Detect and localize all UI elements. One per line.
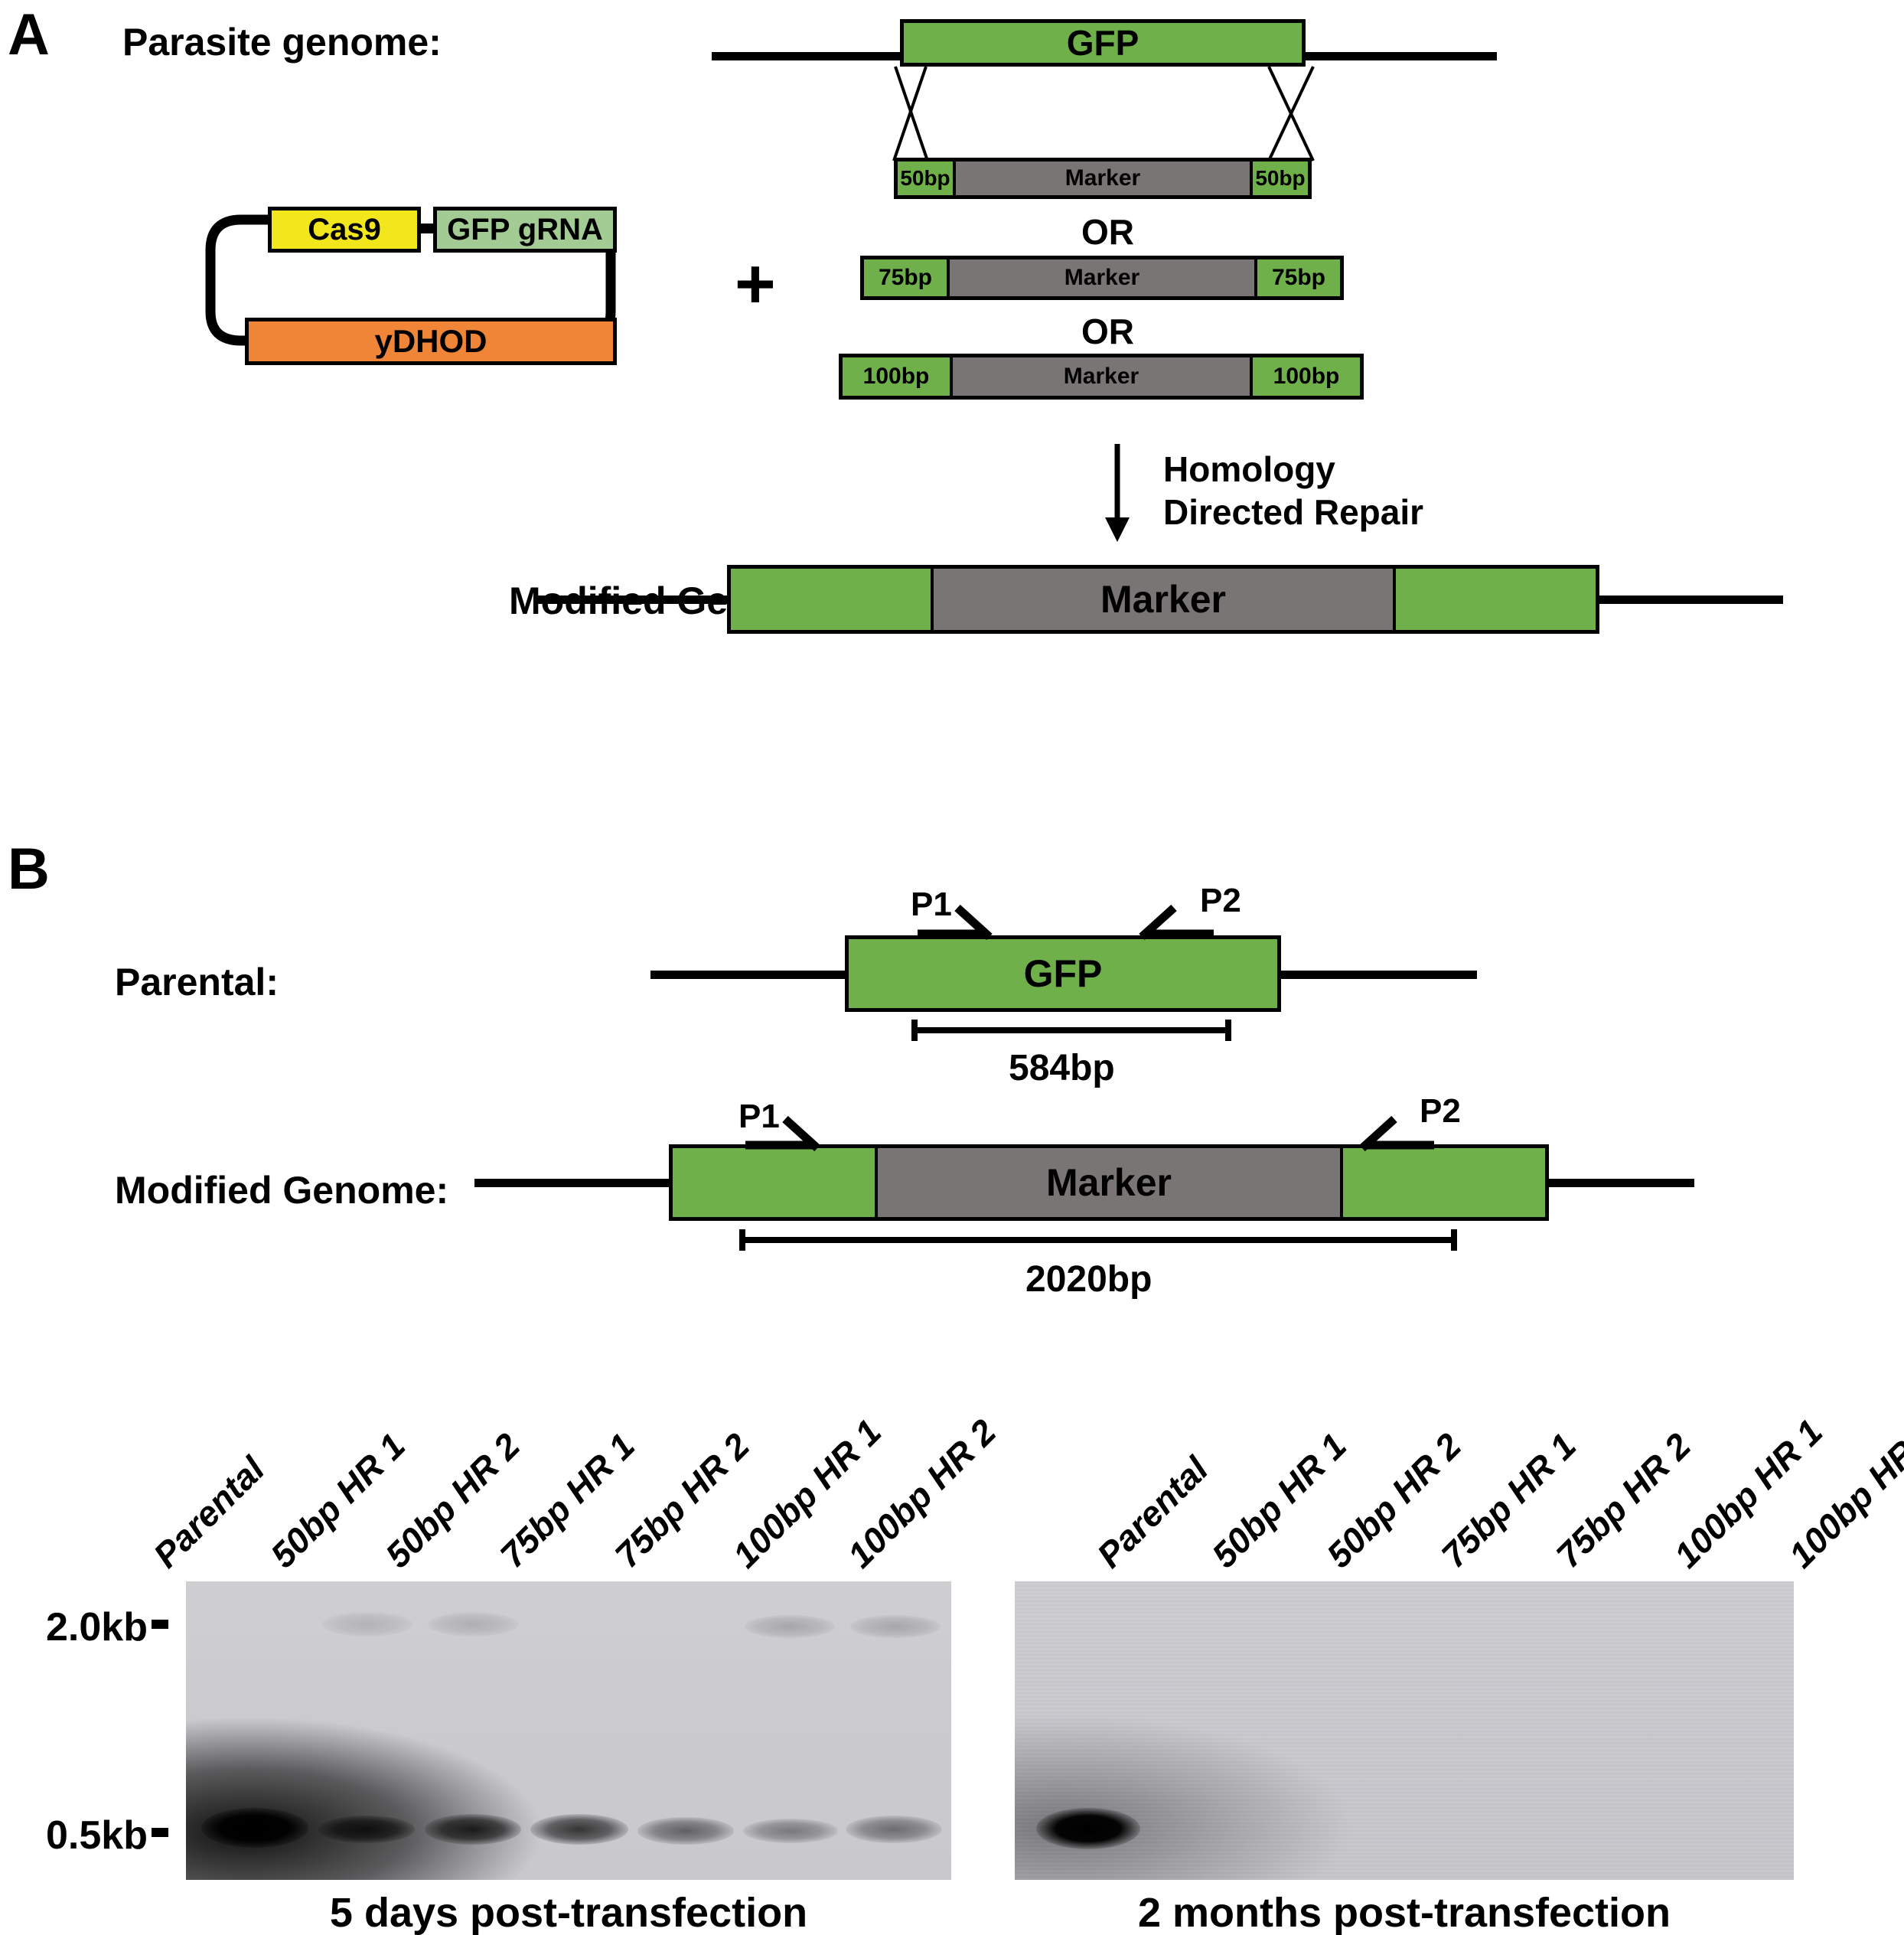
ladder-label-05kb: 0.5kb (46, 1816, 148, 1855)
modified-genome-marker-a: Marker (934, 569, 1393, 630)
donor-75bp-marker-label: Marker (1064, 266, 1139, 289)
modified-amplicon-size: 2020bp (1025, 1261, 1152, 1298)
donor-100bp-right-arm: 100bp (1250, 357, 1360, 396)
gel-band-0.5kb-lane-2 (318, 1816, 415, 1843)
ydhod-label: yDHOD (374, 325, 487, 357)
modified-line-left-b (474, 1179, 673, 1187)
or-label-1: OR (1081, 214, 1134, 250)
genome-line-left (712, 52, 903, 60)
gfp-box-panel-a: GFP (900, 19, 1306, 67)
gel-5-days-post-transfection (186, 1581, 951, 1880)
parental-amplicon-bracket (911, 1016, 1232, 1044)
modified-genome-line-left (536, 596, 731, 604)
primer-p2-arrow-parental (1119, 903, 1218, 940)
donor-75bp-left-arm-label: 75bp (879, 266, 932, 289)
ydhod-box: yDHOD (245, 318, 617, 365)
modified-amplicon-bracket (738, 1226, 1458, 1254)
gel-band-2.0kb-lane-3 (428, 1612, 518, 1636)
gel-band-0.5kb-lane-5 (637, 1817, 734, 1845)
recombination-crossover-lines (880, 65, 1339, 165)
modified-genome-construct-panel-b: Marker (669, 1144, 1549, 1221)
ladder-tick-05kb (152, 1828, 168, 1837)
gel-band-2.0kb-lane-2 (322, 1612, 412, 1636)
modified-genome-marker-b: Marker (878, 1148, 1340, 1217)
modified-genome-marker-label-a: Marker (1100, 580, 1226, 618)
gfp-grna-label: GFP gRNA (447, 214, 603, 245)
modified-genome-left-homology-b (673, 1148, 878, 1217)
donor-100bp-marker: Marker (953, 357, 1250, 396)
hdr-arrow-icon (1087, 444, 1148, 543)
lane-label-left-1: Parental (147, 1450, 270, 1574)
gel-caption-left: 5 days post-transfection (186, 1892, 951, 1933)
gel-2-months-post-transfection (1015, 1581, 1794, 1880)
donor-75bp-marker: Marker (950, 259, 1254, 296)
donor-100bp-right-arm-label: 100bp (1273, 365, 1340, 388)
parental-line-left (650, 971, 846, 979)
gfp-box-label: GFP (1067, 25, 1139, 60)
donor-50bp-left-arm: 50bp (898, 162, 956, 195)
donor-50bp-right-arm-label: 50bp (1255, 168, 1305, 189)
lane-label-right-1: Parental (1091, 1450, 1214, 1574)
donor-75bp-right-arm-label: 75bp (1272, 266, 1325, 289)
primer-p1-arrow-parental (915, 903, 1014, 940)
panel-a-letter: A (8, 6, 50, 64)
donor-100bp-left-arm-label: 100bp (863, 365, 930, 388)
gel-caption-right: 2 months post-transfection (1015, 1892, 1794, 1933)
gfp-grna-box: GFP gRNA (433, 207, 617, 253)
donor-100bp-left-arm: 100bp (843, 357, 953, 396)
ladder-label-2kb: 2.0kb (46, 1607, 148, 1647)
panel-b-letter: B (8, 840, 50, 899)
gfp-box-label-b: GFP (1024, 954, 1103, 993)
primer-p2-arrow-modified (1339, 1114, 1439, 1151)
donor-construct-50bp: 50bp Marker 50bp (894, 158, 1312, 199)
plus-sign: + (735, 249, 776, 319)
genome-line-right (1301, 52, 1497, 60)
parental-label: Parental: (115, 963, 279, 1001)
gel-band-2.0kb-lane-7 (850, 1615, 941, 1638)
donor-50bp-left-arm-label: 50bp (900, 168, 950, 189)
parasite-genome-label: Parasite genome: (122, 23, 442, 61)
panel-b-modified-genome-label: Modified Genome: (115, 1171, 448, 1209)
modified-genome-line-right (1592, 596, 1783, 604)
gel-band-0.5kb-lane-1-right (1036, 1808, 1140, 1849)
cas9-box: Cas9 (268, 207, 421, 253)
gfp-box-panel-b: GFP (845, 935, 1281, 1012)
modified-genome-construct-panel-a: Marker (727, 565, 1599, 634)
donor-construct-75bp: 75bp Marker 75bp (860, 256, 1344, 300)
donor-100bp-marker-label: Marker (1064, 365, 1139, 388)
gel-band-2.0kb-lane-6 (745, 1615, 835, 1638)
hdr-caption: Homology Directed Repair (1163, 448, 1423, 534)
modified-genome-marker-label-b: Marker (1046, 1163, 1172, 1202)
modified-genome-right-homology-a (1393, 569, 1596, 630)
parental-amplicon-size: 584bp (1009, 1050, 1115, 1087)
gel-band-0.5kb-lane-6 (743, 1819, 838, 1843)
donor-75bp-right-arm: 75bp (1254, 259, 1340, 296)
ladder-tick-2kb (152, 1620, 168, 1629)
primer-p1-arrow-modified (742, 1114, 842, 1151)
donor-construct-100bp: 100bp Marker 100bp (839, 354, 1364, 400)
cas9-label: Cas9 (308, 214, 381, 245)
modified-genome-right-homology-b (1340, 1148, 1545, 1217)
donor-50bp-marker-label: Marker (1065, 167, 1140, 190)
gel-band-0.5kb-lane-1 (201, 1808, 308, 1848)
modified-genome-left-homology-a (731, 569, 934, 630)
donor-50bp-right-arm: 50bp (1250, 162, 1308, 195)
modified-line-right-b (1544, 1179, 1694, 1187)
donor-50bp-marker: Marker (956, 162, 1250, 195)
or-label-2: OR (1081, 314, 1134, 349)
gel-band-0.5kb-lane-7 (846, 1816, 942, 1843)
gel-band-0.5kb-lane-4 (530, 1814, 628, 1845)
gel-band-0.5kb-lane-3 (425, 1814, 521, 1845)
donor-75bp-left-arm: 75bp (864, 259, 950, 296)
figure-root: A Parasite genome: GFP 50bp Marker 50bp … (0, 0, 1904, 1935)
parental-line-right (1278, 971, 1477, 979)
